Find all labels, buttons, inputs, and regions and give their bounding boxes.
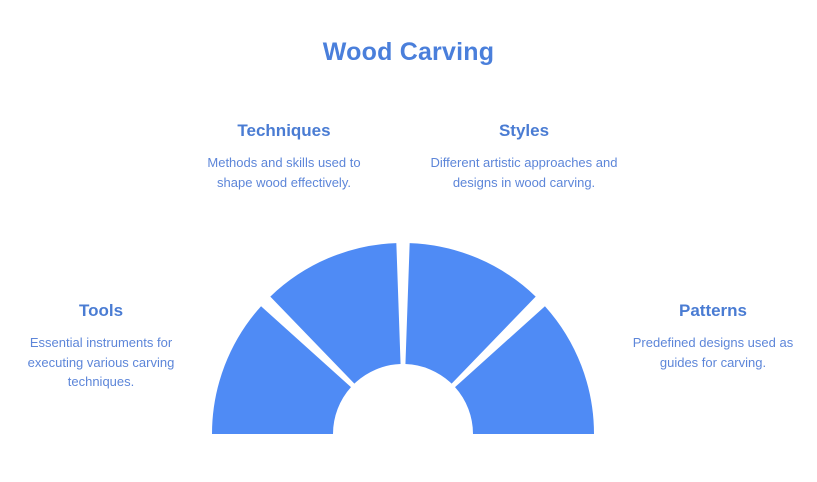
node-techniques[interactable]: Techniques Methods and skills used to sh… [189, 120, 379, 192]
segment-group [212, 243, 594, 434]
node-styles[interactable]: Styles Different artistic approaches and… [429, 120, 619, 192]
node-styles-label: Styles [429, 120, 619, 142]
node-patterns[interactable]: Patterns Predefined designs used as guid… [615, 300, 811, 372]
semicircle-chart [0, 0, 817, 482]
node-styles-description: Different artistic approaches and design… [429, 153, 619, 192]
node-tools-description: Essential instruments for executing vari… [7, 333, 195, 392]
node-techniques-label: Techniques [189, 120, 379, 142]
semicircle-svg [0, 0, 817, 482]
node-techniques-description: Methods and skills used to shape wood ef… [189, 153, 379, 192]
node-patterns-description: Predefined designs used as guides for ca… [615, 333, 811, 372]
node-tools[interactable]: Tools Essential instruments for executin… [7, 300, 195, 392]
node-tools-label: Tools [7, 300, 195, 322]
node-patterns-label: Patterns [615, 300, 811, 322]
diagram-canvas: Wood Carving Techniques Methods and skil… [0, 0, 817, 482]
